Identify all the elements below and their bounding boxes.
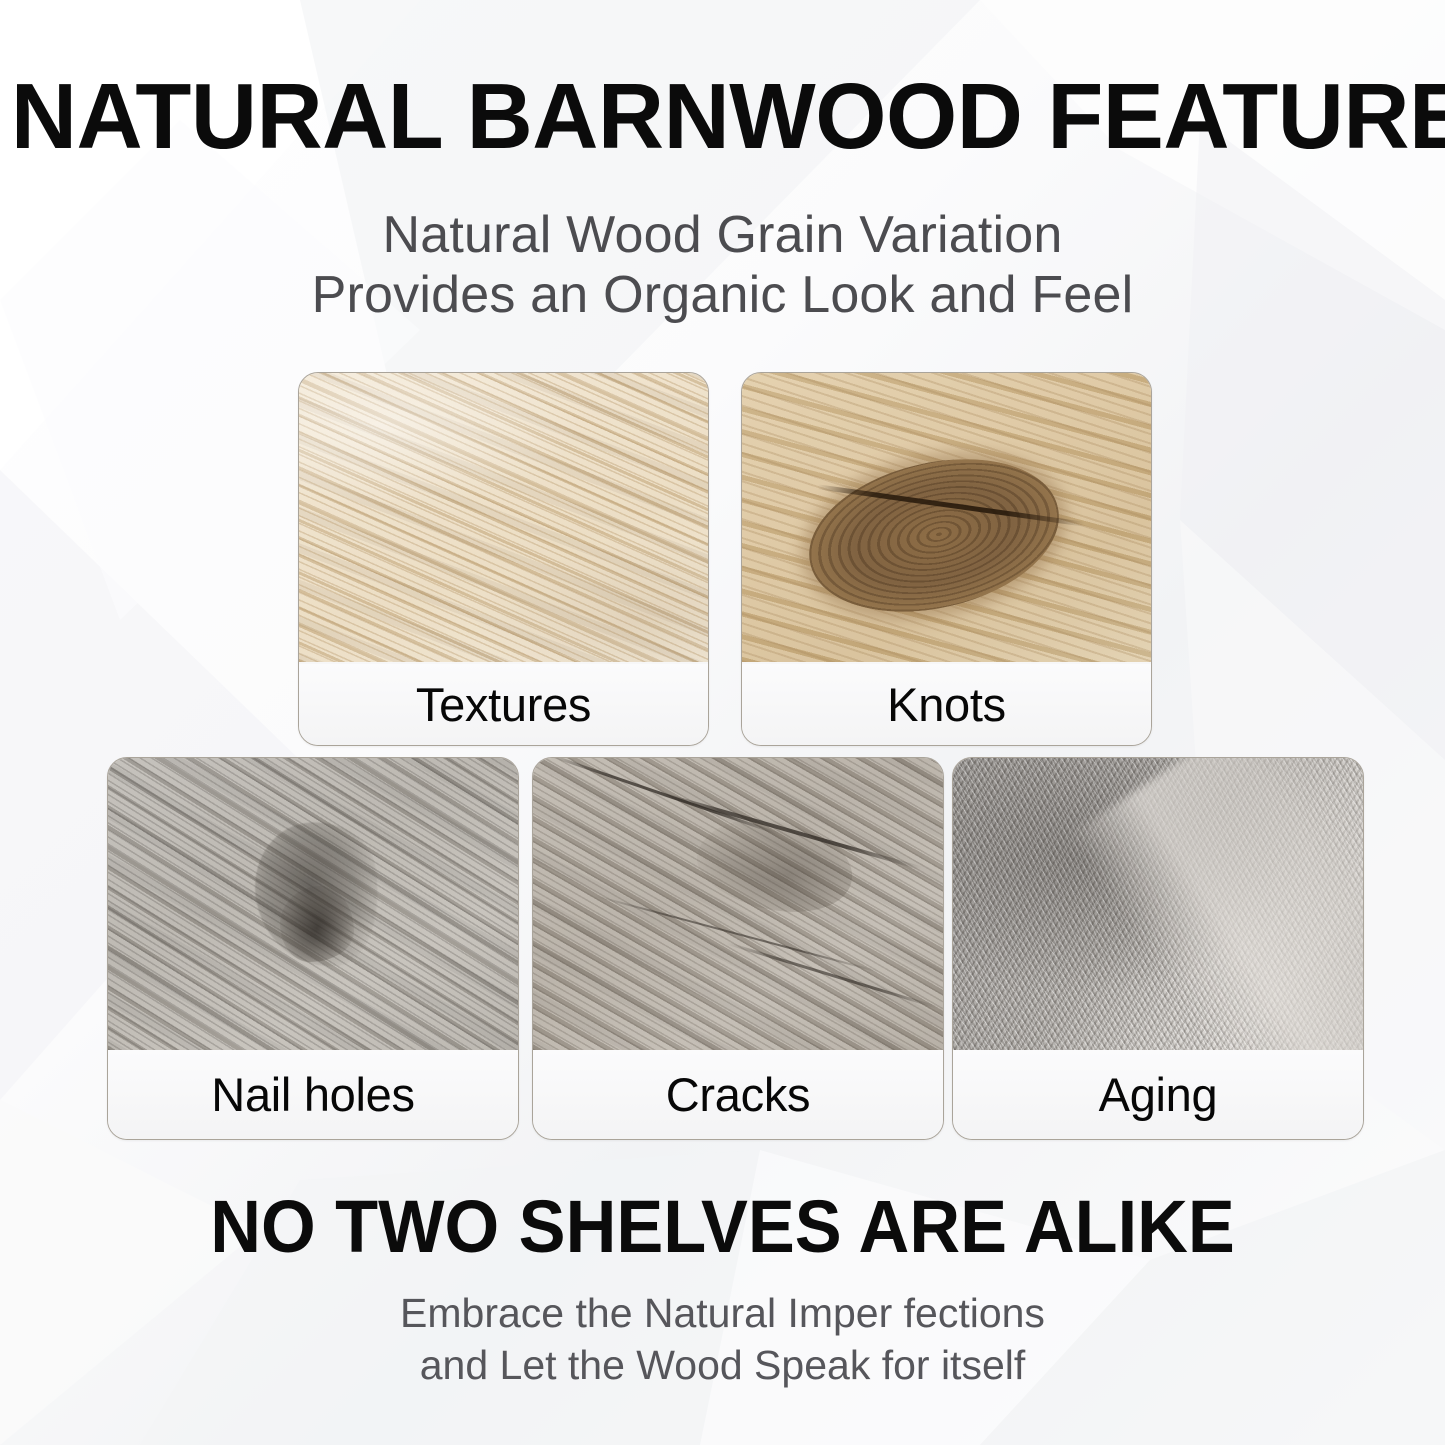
feature-card-aging[interactable]: Aging [952,757,1364,1140]
crack-line [726,942,938,1009]
wood-texture-swatch [742,373,1151,662]
feature-caption-cracks: Cracks [533,1050,943,1139]
knot-shape [794,436,1074,634]
footer-headline: NO TWO SHELVES ARE ALIKE [36,1190,1409,1264]
feature-caption-textures: Textures [299,664,708,745]
wood-texture-swatch [953,758,1363,1050]
wood-texture-swatch [299,373,708,662]
feature-caption-nail-holes: Nail holes [108,1050,518,1139]
feature-image-knots [742,373,1151,662]
feature-caption-knots: Knots [742,664,1151,745]
feature-card-textures[interactable]: Textures [298,372,709,746]
footer-text: Embrace the Natural Imper fections and L… [0,1288,1445,1391]
feature-image-nail-holes [108,758,518,1050]
page-title: NATURAL BARNWOOD FEATURES [11,70,1434,163]
footer-line-1: Embrace the Natural Imper fections [0,1288,1445,1340]
infographic-canvas: NATURAL BARNWOOD FEATURES Natural Wood G… [0,0,1445,1445]
crack-line [595,895,881,973]
feature-image-cracks [533,758,943,1050]
feature-caption-aging: Aging [953,1050,1363,1139]
footer-line-2: and Let the Wood Speak for itself [0,1340,1445,1392]
feature-image-aging [953,758,1363,1050]
crack-region [688,802,862,929]
subtitle-line-2: Provides an Organic Look and Feel [0,265,1445,325]
feature-card-nail-holes[interactable]: Nail holes [107,757,519,1140]
wood-texture-swatch [108,758,518,1050]
feature-card-knots[interactable]: Knots [741,372,1152,746]
feature-card-cracks[interactable]: Cracks [532,757,944,1140]
wood-texture-swatch [533,758,943,1050]
feature-image-textures [299,373,708,662]
subtitle-line-1: Natural Wood Grain Variation [0,205,1445,265]
nail-hole-gouge-core [280,886,354,962]
page-subtitle: Natural Wood Grain Variation Provides an… [0,205,1445,326]
